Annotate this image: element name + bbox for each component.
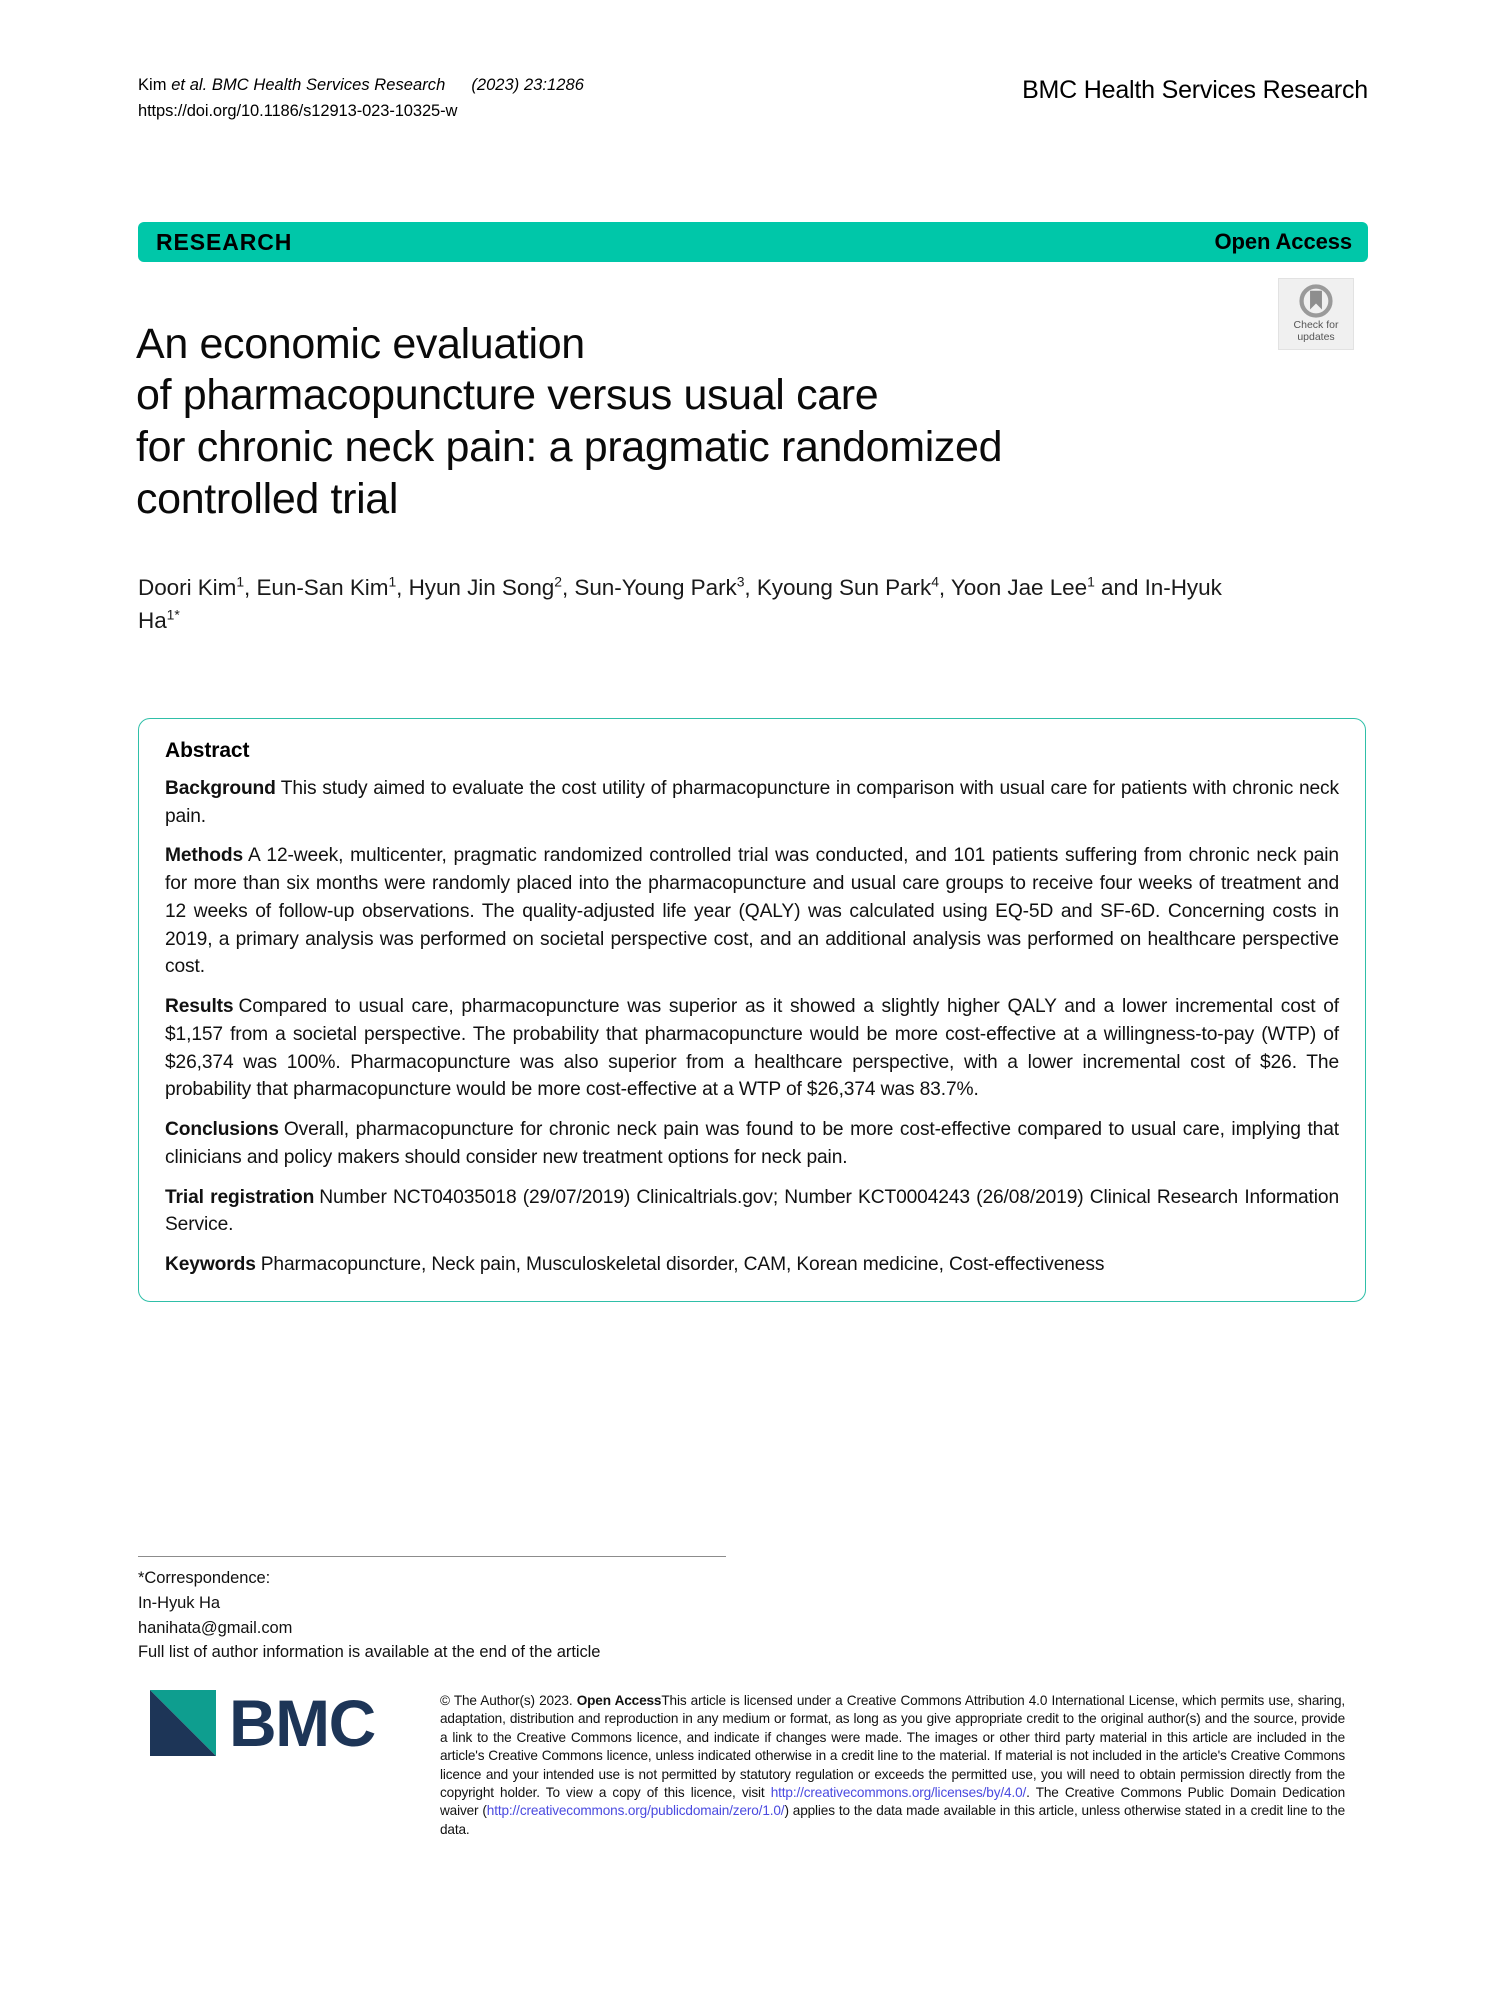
license-part-1: This article is licensed under a Creativ… [440, 1693, 1345, 1800]
abstract-label-keywords: Keywords [165, 1254, 256, 1275]
abstract-section-keywords: KeywordsPharmacopuncture, Neck pain, Mus… [165, 1251, 1339, 1279]
abstract-box: Abstract BackgroundThis study aimed to e… [138, 718, 1366, 1302]
abstract-label-trial-registration: Trial registration [165, 1187, 314, 1208]
title-line-3: for chronic neck pain: a pragmatic rando… [136, 422, 1316, 474]
abstract-label-background: Background [165, 778, 276, 799]
citation-volume: (2023) 23:1286 [471, 74, 584, 97]
author-name: Kyoung Sun Park [757, 575, 931, 600]
author-name: Yoon Jae Lee [951, 575, 1087, 600]
license-block: © The Author(s) 2023. Open AccessThis ar… [440, 1692, 1345, 1839]
author-list: Doori Kim1, Eun-San Kim1, Hyun Jin Song2… [138, 572, 1268, 637]
correspondence-email[interactable]: hanihata@gmail.com [138, 1616, 758, 1641]
abstract-body-results: Compared to usual care, pharmacopuncture… [165, 996, 1339, 1100]
author-affil-sup: 4 [931, 574, 939, 590]
abstract-section-conclusions: ConclusionsOverall, pharmacopuncture for… [165, 1116, 1339, 1171]
license-copyright: © The Author(s) 2023. [440, 1693, 572, 1708]
abstract-label-conclusions: Conclusions [165, 1119, 279, 1140]
abstract-label-methods: Methods [165, 845, 243, 866]
abstract-section-methods: MethodsA 12-week, multicenter, pragmatic… [165, 842, 1339, 981]
title-line-4: controlled trial [136, 474, 1316, 526]
abstract-body-trial-registration: Number NCT04035018 (29/07/2019) Clinical… [165, 1187, 1339, 1236]
correspondence-block: *Correspondence: In-Hyuk Ha hanihata@gma… [138, 1566, 758, 1665]
license-link-by40[interactable]: http://creativecommons.org/licenses/by/4… [771, 1785, 1026, 1800]
citation-author: Kim [138, 76, 171, 94]
abstract-body-conclusions: Overall, pharmacopuncture for chronic ne… [165, 1119, 1339, 1168]
title-line-1: An economic evaluation [136, 319, 1316, 371]
abstract-body-keywords: Pharmacopuncture, Neck pain, Musculoskel… [261, 1254, 1105, 1275]
abstract-section-trial-registration: Trial registrationNumber NCT04035018 (29… [165, 1184, 1339, 1239]
crossmark-bookmark-icon [1299, 284, 1333, 318]
research-banner: RESEARCH Open Access [138, 222, 1368, 262]
running-head: Kim et al. BMC Health Services Research(… [138, 74, 1368, 124]
author-name: Sun-Young Park [574, 575, 736, 600]
correspondence-label: *Correspondence: [138, 1566, 758, 1591]
author-affil-sup: 1 [388, 574, 396, 590]
abstract-section-results: ResultsCompared to usual care, pharmacop… [165, 993, 1339, 1104]
author-name: Hyun Jin Song [409, 575, 555, 600]
correspondence-note: Full list of author information is avail… [138, 1640, 758, 1665]
running-head-left: Kim et al. BMC Health Services Research(… [138, 74, 584, 124]
abstract-body-methods: A 12-week, multicenter, pragmatic random… [165, 845, 1339, 977]
page-title: An economic evaluation of pharmacopunctu… [136, 319, 1316, 525]
abstract-body-background: This study aimed to evaluate the cost ut… [165, 778, 1339, 827]
correspondence-divider [138, 1556, 726, 1557]
author-affil-sup: 1* [167, 606, 180, 622]
bmc-logo: BMC [150, 1690, 375, 1756]
author-name: Eun-San Kim [256, 575, 388, 600]
author-affil-sup: 1 [236, 574, 244, 590]
author-name: Doori Kim [138, 575, 236, 600]
abstract-section-background: BackgroundThis study aimed to evaluate t… [165, 775, 1339, 830]
abstract-label-results: Results [165, 996, 233, 1017]
bmc-wordmark: BMC [229, 1690, 375, 1756]
correspondence-name: In-Hyuk Ha [138, 1591, 758, 1616]
doi-link[interactable]: https://doi.org/10.1186/s12913-023-10325… [138, 100, 584, 123]
author-affil-sup: 2 [554, 574, 562, 590]
author-affil-sup: 3 [737, 574, 745, 590]
title-line-2: of pharmacopuncture versus usual care [136, 370, 1316, 422]
license-open-access: Open Access [577, 1693, 662, 1708]
journal-title: BMC Health Services Research [1022, 76, 1368, 105]
paper-page: Kim et al. BMC Health Services Research(… [0, 0, 1505, 2000]
citation-journal: et al. BMC Health Services Research [171, 76, 445, 94]
citation-line: Kim et al. BMC Health Services Research(… [138, 74, 584, 97]
license-link-zero10[interactable]: http://creativecommons.org/publicdomain/… [487, 1803, 785, 1818]
abstract-heading: Abstract [165, 739, 1339, 763]
author-affil-sup: 1 [1087, 574, 1095, 590]
open-access-label: Open Access [1215, 229, 1353, 255]
bmc-square-icon [150, 1690, 216, 1756]
article-type-label: RESEARCH [156, 229, 292, 256]
bmc-mark-icon [150, 1690, 216, 1756]
